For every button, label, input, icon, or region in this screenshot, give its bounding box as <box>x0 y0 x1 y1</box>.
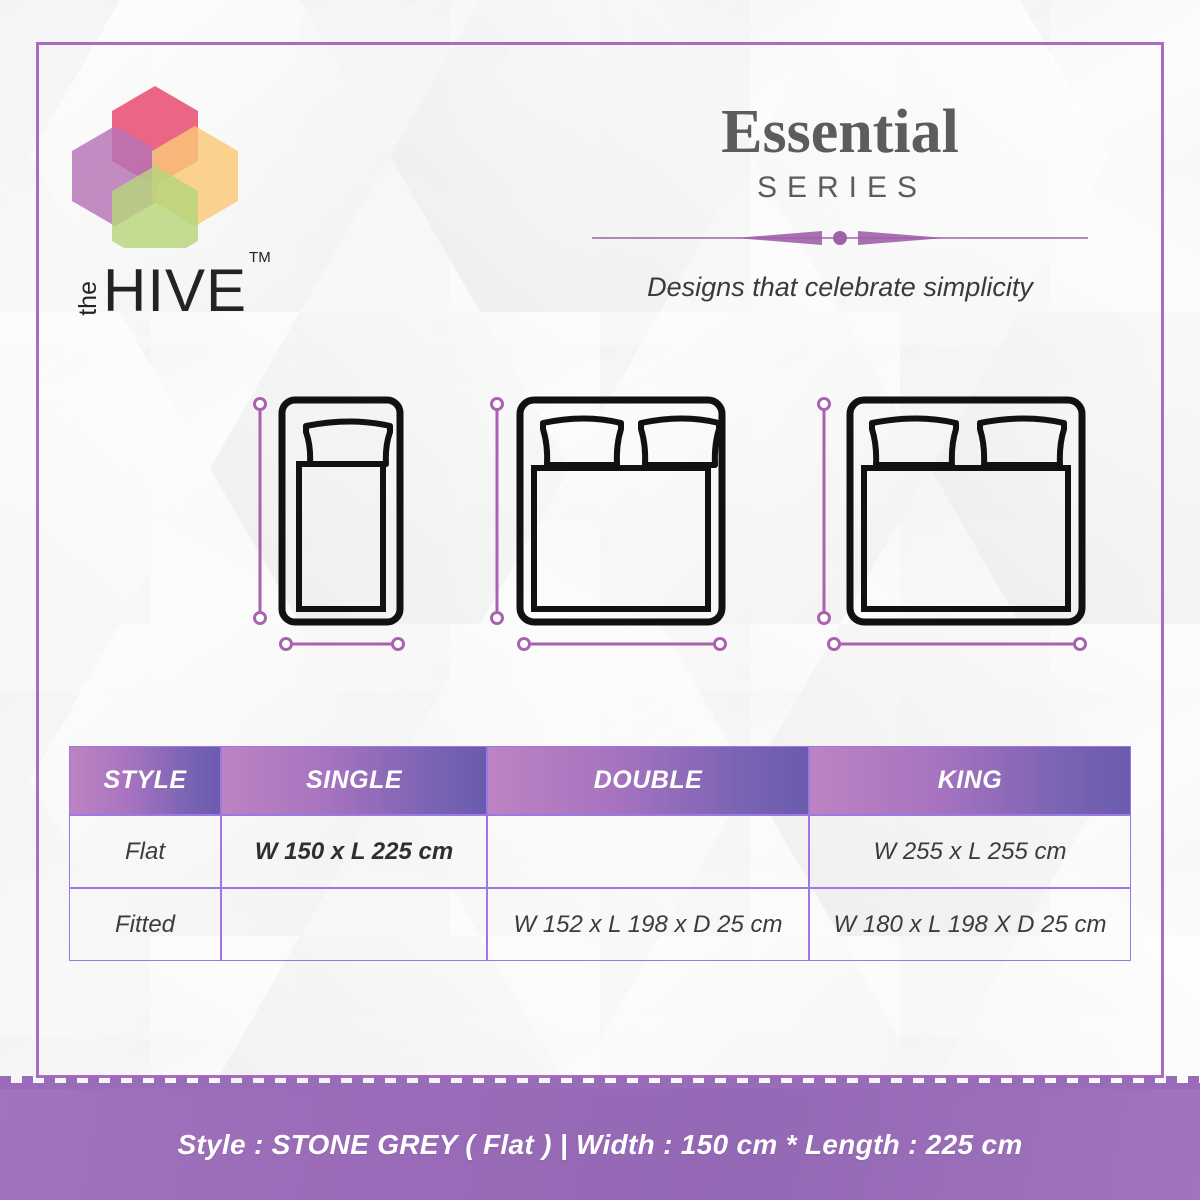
cell-flat-double <box>487 815 809 888</box>
brand-word-hive: HIVE <box>103 263 247 318</box>
size-spec-table: STYLE SINGLE DOUBLE KING Flat W 150 x L … <box>69 746 1131 961</box>
cell-flat-single: W 150 x L 225 cm <box>221 815 487 888</box>
table-header-king: KING <box>809 746 1131 815</box>
brand-word-the: the <box>76 281 101 316</box>
double-bed-diagram <box>486 390 746 660</box>
cell-fitted-single <box>221 888 487 961</box>
table-row: Flat W 150 x L 225 cm W 255 x L 255 cm <box>69 815 1131 888</box>
king-bed-diagram <box>812 390 1102 660</box>
series-subtitle: SERIES <box>584 171 1100 205</box>
king-bed-width-dimension <box>829 639 1086 650</box>
row-label-fitted: Fitted <box>69 888 221 961</box>
footer-info-bar: Style : STONE GREY ( Flat ) | Width : 15… <box>0 1089 1200 1200</box>
cell-fitted-king: W 180 x L 198 X D 25 cm <box>809 888 1131 961</box>
double-bed-height-dimension <box>492 399 503 624</box>
single-bed-icon <box>282 400 400 622</box>
brand-logo-block: the HIVE TM <box>70 78 300 328</box>
king-bed-icon <box>850 400 1082 622</box>
cell-fitted-double: W 152 x L 198 x D 25 cm <box>487 888 809 961</box>
footer-style-summary: Style : STONE GREY ( Flat ) | Width : 15… <box>177 1129 1022 1161</box>
footer-zigzag-edge <box>0 1076 1200 1090</box>
table-header-style: STYLE <box>69 746 221 815</box>
cell-flat-king: W 255 x L 255 cm <box>809 815 1131 888</box>
brand-wordmark: the HIVE TM <box>76 246 271 318</box>
bed-size-diagrams <box>0 380 1200 670</box>
series-header: Essential SERIES Designs that celebrate … <box>580 100 1100 303</box>
hive-hexagon-flower-logo <box>70 78 240 248</box>
table-header-double: DOUBLE <box>487 746 809 815</box>
double-bed-icon <box>520 400 722 622</box>
single-bed-diagram <box>246 390 446 660</box>
table-header-single: SINGLE <box>221 746 487 815</box>
double-arrow-divider-ornament <box>590 227 1090 249</box>
single-bed-height-dimension <box>255 399 266 624</box>
product-spec-graphic: the HIVE TM Essential SERIES Designs tha… <box>0 0 1200 1200</box>
king-bed-height-dimension <box>819 399 830 624</box>
series-tagline: Designs that celebrate simplicity <box>580 272 1100 303</box>
trademark-symbol: TM <box>249 250 271 265</box>
table-header-row: STYLE SINGLE DOUBLE KING <box>69 746 1131 815</box>
table-row: Fitted W 152 x L 198 x D 25 cm W 180 x L… <box>69 888 1131 961</box>
series-title: Essential <box>580 100 1100 165</box>
double-bed-width-dimension <box>519 639 726 650</box>
row-label-flat: Flat <box>69 815 221 888</box>
single-bed-width-dimension <box>281 639 404 650</box>
